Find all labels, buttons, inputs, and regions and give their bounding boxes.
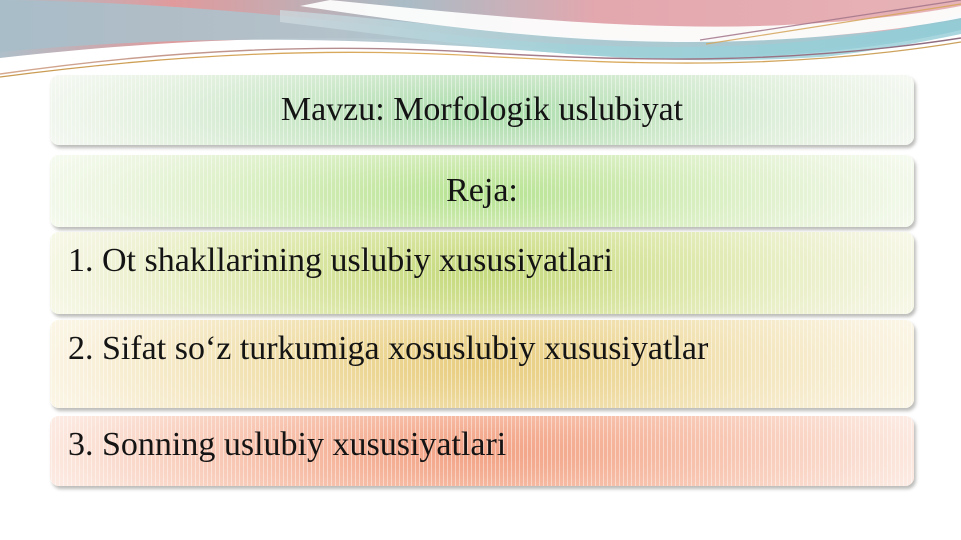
agenda-item-3: 3. Sonning uslubiy xususiyatlari bbox=[50, 416, 914, 486]
slide-title-block: Mavzu: Morfologik uslubiyat bbox=[50, 75, 914, 145]
slide-title-text: Mavzu: Morfologik uslubiyat bbox=[50, 75, 914, 130]
decorative-wave-banner bbox=[0, 0, 961, 78]
agenda-heading-text: Reja: bbox=[50, 155, 914, 211]
slide-canvas: Mavzu: Morfologik uslubiyat Reja: 1. Ot … bbox=[0, 0, 961, 540]
agenda-item-1-text: 1. Ot shakllarining uslubiy xususiyatlar… bbox=[50, 232, 914, 281]
agenda-item-2: 2. Sifat so‘z turkumiga xosuslubiy xusus… bbox=[50, 320, 914, 408]
agenda-heading-block: Reja: bbox=[50, 155, 914, 227]
slide-content: Mavzu: Morfologik uslubiyat Reja: 1. Ot … bbox=[50, 75, 914, 486]
agenda-item-3-text: 3. Sonning uslubiy xususiyatlari bbox=[50, 416, 914, 465]
wave-graphic bbox=[0, 0, 961, 78]
agenda-item-2-text: 2. Sifat so‘z turkumiga xosuslubiy xusus… bbox=[50, 320, 914, 369]
agenda-item-1: 1. Ot shakllarining uslubiy xususiyatlar… bbox=[50, 232, 914, 314]
